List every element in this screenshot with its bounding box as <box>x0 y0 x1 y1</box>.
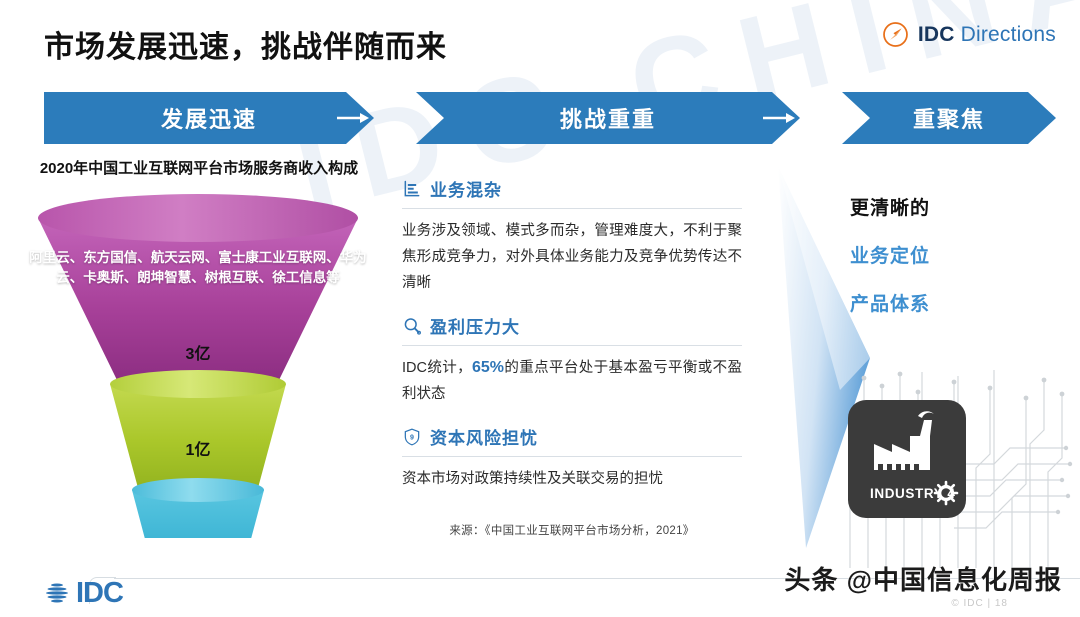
svg-text:9: 9 <box>410 433 414 441</box>
funnel-chart: DC DC 阿里云、东方国信、航天云网、富士康工业互联网、华为云、卡奥斯、朗坤智… <box>28 188 368 538</box>
brand-idc-text: IDC <box>918 23 955 46</box>
challenge-3-divider <box>402 456 742 457</box>
challenges-panel: 业务混杂 业务涉及领域、模式多而杂，管理难度大，不利于聚焦形成竞争力，对外具体业… <box>402 176 742 538</box>
challenge-1-body: 业务涉及领域、模式多而杂，管理难度大，不利于聚焦形成竞争力，对外具体业务能力及竞… <box>402 218 742 296</box>
funnel-graphic: DC DC <box>28 188 368 538</box>
challenge-2-divider <box>402 345 742 346</box>
circuit-board-icon: INDUSTRY 4 <box>834 368 1074 568</box>
chevron-step-1-label: 发展迅速 <box>161 102 257 134</box>
brand-wordmark: IDC Directions <box>918 23 1056 47</box>
chevron-step-2-label: 挑战重重 <box>560 102 656 134</box>
challenge-2-body: IDC统计，65%的重点平台处于基本盈亏平衡或不盈利状态 <box>402 355 742 407</box>
page-title: 市场发展迅速，挑战伴随而来 <box>44 22 447 66</box>
chevron-step-3[interactable]: 重聚焦 <box>842 92 1056 144</box>
toutiao-watermark: 头条 @中国信息化周报 <box>784 560 1062 597</box>
funnel-chart-title: 2020年中国工业互联网平台市场服务商收入构成 <box>34 158 364 180</box>
refocus-line-2: 业务定位 <box>850 246 1070 267</box>
challenge-2-body-before: IDC统计， <box>402 360 472 376</box>
industry40-chip-graphic: INDUSTRY 4 <box>834 368 1074 568</box>
bar-chart-icon <box>402 179 422 199</box>
chart-source-note: 来源：《中国工业互联网平台市场分析，2021》 <box>402 522 742 538</box>
funnel-chart-panel: 2020年中国工业互联网平台市场服务商收入构成 <box>20 158 380 538</box>
challenge-3-title: 资本风险担忧 <box>430 424 538 449</box>
idc-directions-logo: IDC Directions <box>882 21 1056 48</box>
challenge-block-3: 9 资本风险担忧 资本市场对政策持续性及关联交易的担忧 <box>402 424 742 492</box>
copyright-watermark: © IDC | 18 <box>951 598 1008 609</box>
challenge-block-1: 业务混杂 业务涉及领域、模式多而杂，管理难度大，不利于聚焦形成竞争力，对外具体业… <box>402 176 742 296</box>
arrow-right-icon <box>335 108 371 128</box>
challenge-3-body: 资本市场对政策持续性及关联交易的担忧 <box>402 466 742 492</box>
idc-globe-icon <box>42 578 72 608</box>
challenge-2-header: 盈利压力大 <box>402 313 742 338</box>
magnifier-icon <box>402 316 422 336</box>
shield-icon: 9 <box>402 427 422 447</box>
refocus-line-1: 更清晰的 <box>850 198 1070 219</box>
brand-directions-text: Directions <box>961 23 1056 46</box>
challenge-1-title: 业务混杂 <box>430 176 502 201</box>
challenge-1-header: 业务混杂 <box>402 176 742 201</box>
compass-icon <box>882 21 909 48</box>
chevron-arrow-1 <box>332 92 374 144</box>
challenge-1-divider <box>402 208 742 209</box>
arrow-right-icon <box>761 108 797 128</box>
chevron-step-2[interactable]: 挑战重重 <box>416 92 800 144</box>
chevron-step-1[interactable]: 发展迅速 <box>44 92 374 144</box>
chevron-arrow-2 <box>758 92 800 144</box>
chevron-step-3-label: 重聚焦 <box>913 102 985 134</box>
refocus-text-group: 更清晰的 业务定位 产品体系 <box>850 198 1070 342</box>
challenge-block-2: 盈利压力大 IDC统计，65%的重点平台处于基本盈亏平衡或不盈利状态 <box>402 313 742 407</box>
process-chevron-banner: 发展迅速 挑战重重 重聚焦 <box>44 92 1056 144</box>
challenge-3-header: 9 资本风险担忧 <box>402 424 742 449</box>
footer-idc-logo: IDC <box>42 578 123 608</box>
footer-idc-text: IDC <box>76 579 123 608</box>
refocus-line-3: 产品体系 <box>850 294 1070 315</box>
refocus-panel: 更清晰的 业务定位 产品体系 <box>762 150 1080 570</box>
slide-root: IDC CHINA 市场发展迅速，挑战伴随而来 IDC Directions 发… <box>0 0 1080 617</box>
challenge-2-title: 盈利压力大 <box>430 313 520 338</box>
challenge-2-highlight: 65% <box>472 359 504 376</box>
